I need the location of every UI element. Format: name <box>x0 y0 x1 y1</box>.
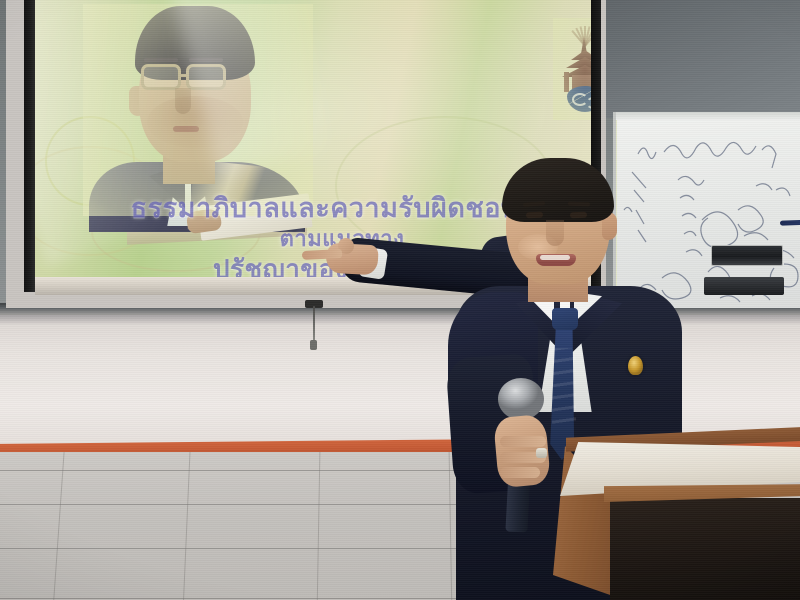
whiteboard-marker[interactable] <box>780 219 800 225</box>
podium-interior-shadow <box>610 498 800 600</box>
screen-bezel-left <box>24 0 35 292</box>
presenter-hair <box>502 158 614 222</box>
wooden-podium <box>548 432 800 600</box>
hanging-cord <box>313 306 315 342</box>
gold-lapel-pin-icon <box>628 356 643 375</box>
mic-hand-finger <box>500 467 540 478</box>
hanging-cord-weight <box>310 340 317 350</box>
presenter-nose <box>546 220 564 246</box>
necktie-pattern <box>552 348 576 428</box>
emblem-glare-overlay <box>553 18 591 120</box>
necktie-knot <box>552 308 578 330</box>
whiteboard-eraser[interactable] <box>711 245 783 266</box>
mic-hand-finger <box>500 436 546 447</box>
presenter-eye-right <box>570 212 587 219</box>
photograph-scene: ธรรมาภิบาลและความรับผิดชอบต่อ ตามแนวทาง … <box>0 0 800 600</box>
thai-royal-emblem-icon <box>559 24 591 114</box>
presenter-teeth <box>540 255 570 260</box>
presenter-eyebrow-right <box>568 202 590 207</box>
finger-ring <box>536 448 547 458</box>
presenter-eye-left <box>526 212 543 219</box>
microphone-head-icon <box>498 378 544 420</box>
wall-shadow-band <box>575 0 800 118</box>
whiteboard-eraser-secondary[interactable] <box>704 277 784 295</box>
